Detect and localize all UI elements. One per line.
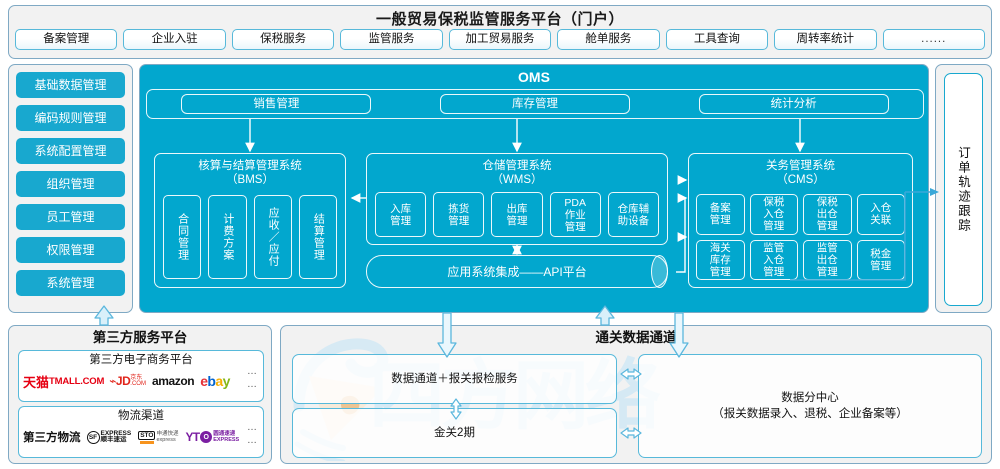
logistics-title: 物流渠道	[19, 407, 263, 424]
tracking-panel: 订单轨迹跟踪	[935, 64, 992, 313]
bms-title: 核算与结算管理系统 （BMS）	[155, 154, 345, 187]
third-party-title: 第三方服务平台	[9, 326, 271, 346]
oms-top-module-group: 销售管理 库存管理 统计分析	[146, 89, 924, 119]
cms-cell-inbound-link[interactable]: 入仓 关联	[857, 194, 906, 235]
order-tracking-label: 订单轨迹跟踪	[954, 146, 973, 233]
nav-button-7[interactable]: 周转率统计	[774, 29, 876, 50]
nav-button-4[interactable]: 加工贸易服务	[449, 29, 551, 50]
ecommerce-title: 第三方电子商务平台	[19, 351, 263, 368]
wms-cell-inbound[interactable]: 入库 管理	[375, 192, 426, 237]
jd-logo-icon[interactable]: ⌁JD京东.COM	[109, 374, 146, 388]
oms-title: OMS	[140, 65, 928, 85]
tmall-logo-icon[interactable]: 天猫TMALL.COM	[23, 372, 104, 391]
ecommerce-more-dots[interactable]: … …	[247, 365, 258, 391]
bms-cell-billing-plan[interactable]: 计费方案	[208, 195, 246, 279]
cms-cell-bonded-out[interactable]: 保税 出仓 管理	[803, 194, 852, 235]
cms-block: 关务管理系统 （CMS） 备案 管理 保税 入仓 管理 保税 出仓 管理 入仓 …	[688, 153, 913, 288]
ecommerce-logo-row: 天猫TMALL.COM ⌁JD京东.COM amazon ebay	[19, 368, 263, 394]
sidebar-item-organization[interactable]: 组织管理	[16, 171, 125, 197]
sidebar-panel: 基础数据管理 编码规则管理 系统配置管理 组织管理 员工管理 权限管理 系统管理	[8, 64, 133, 313]
oms-module-inventory[interactable]: 库存管理	[440, 94, 630, 114]
nav-button-0[interactable]: 备案管理	[15, 29, 117, 50]
customs-data-channel-box[interactable]: 数据通道＋报关报检服务	[292, 354, 617, 404]
cms-cell-record[interactable]: 备案 管理	[696, 194, 745, 235]
nav-button-more[interactable]: ......	[883, 29, 985, 50]
sto-express-logo-icon[interactable]: STO 申通快递express	[138, 431, 178, 444]
bms-cell-contract[interactable]: 合同管理	[163, 195, 201, 279]
oms-module-statistics[interactable]: 统计分析	[699, 94, 889, 114]
cms-cell-bonded-in[interactable]: 保税 入仓 管理	[750, 194, 799, 235]
wms-cell-outbound[interactable]: 出库 管理	[491, 192, 542, 237]
logistics-logo-row: 第三方物流 SFEXPRESS顺丰速运 STO 申通快递express YTO圆…	[19, 424, 263, 450]
third-party-logistics-label: 第三方物流	[23, 429, 81, 445]
page-title: 一般贸易保税监管服务平台（门户）	[9, 6, 991, 29]
sidebar-item-permission[interactable]: 权限管理	[16, 237, 125, 263]
nav-button-3[interactable]: 监管服务	[340, 29, 442, 50]
golden-gate-phase2-box[interactable]: 金关2期	[292, 408, 617, 458]
wms-cell-picking[interactable]: 拣货 管理	[433, 192, 484, 237]
customs-panel: 四方网络 通关数据通道 数据通道＋报关报检服务 金关2期 数据分中心 （报关数据…	[280, 325, 992, 464]
oms-module-sales[interactable]: 销售管理	[181, 94, 371, 114]
wms-cell-group: 入库 管理 拣货 管理 出库 管理 PDA 作业 管理 仓库辅 助设备	[375, 192, 659, 237]
amazon-logo-icon[interactable]: amazon	[152, 374, 194, 388]
wms-cell-equipment[interactable]: 仓库辅 助设备	[608, 192, 659, 237]
sidebar-item-employee[interactable]: 员工管理	[16, 204, 125, 230]
sidebar-list: 基础数据管理 编码规则管理 系统配置管理 组织管理 员工管理 权限管理 系统管理	[9, 65, 132, 296]
oms-panel: OMS 销售管理 库存管理 统计分析 核算与结算管理系统 （BMS） 合同管理 …	[139, 64, 929, 313]
api-platform-label: 应用系统集成——API平台	[447, 263, 586, 280]
cms-title: 关务管理系统 （CMS）	[689, 154, 912, 187]
sidebar-item-system-config[interactable]: 系统配置管理	[16, 138, 125, 164]
sf-express-logo-icon[interactable]: SFEXPRESS顺丰速运	[87, 431, 132, 444]
ecommerce-card: 第三方电子商务平台 天猫TMALL.COM ⌁JD京东.COM amazon e…	[18, 350, 264, 402]
bms-block: 核算与结算管理系统 （BMS） 合同管理 计费方案 应收／应付 结算管理	[154, 153, 346, 288]
cms-cell-supervise-out[interactable]: 监管 出仓 管理	[803, 240, 852, 281]
sidebar-item-code-rule[interactable]: 编码规则管理	[16, 105, 125, 131]
logistics-more-dots[interactable]: … …	[247, 421, 258, 447]
wms-cell-pda[interactable]: PDA 作业 管理	[550, 192, 601, 237]
customs-title: 通关数据通道	[281, 326, 991, 346]
nav-button-6[interactable]: 工具查询	[666, 29, 768, 50]
header-nav: 备案管理 企业入驻 保税服务 监管服务 加工贸易服务 舱单服务 工具查询 周转率…	[9, 29, 991, 50]
sidebar-item-system[interactable]: 系统管理	[16, 270, 125, 296]
wms-block: 仓储管理系统 （WMS） 入库 管理 拣货 管理 出库 管理 PDA 作业 管理…	[366, 153, 668, 245]
third-party-panel: 第三方服务平台 第三方电子商务平台 天猫TMALL.COM ⌁JD京东.COM …	[8, 325, 272, 464]
order-tracking-box[interactable]: 订单轨迹跟踪	[944, 73, 983, 306]
nav-button-2[interactable]: 保税服务	[232, 29, 334, 50]
data-subcenter-box[interactable]: 数据分中心 （报关数据录入、退税、企业备案等）	[638, 354, 982, 458]
diagram-root: 一般贸易保税监管服务平台（门户） 备案管理 企业入驻 保税服务 监管服务 加工贸…	[0, 0, 1000, 469]
arrow-api-to-cms	[680, 198, 686, 272]
sidebar-item-basic-data[interactable]: 基础数据管理	[16, 72, 125, 98]
header-panel: 一般贸易保税监管服务平台（门户） 备案管理 企业入驻 保税服务 监管服务 加工贸…	[8, 5, 992, 59]
logistics-card: 物流渠道 第三方物流 SFEXPRESS顺丰速运 STO 申通快递express…	[18, 406, 264, 458]
nav-button-1[interactable]: 企业入驻	[123, 29, 225, 50]
cylinder-endcap-icon	[651, 255, 668, 288]
bms-cell-settlement[interactable]: 结算管理	[299, 195, 337, 279]
cms-cell-tax[interactable]: 税金 管理	[857, 240, 906, 281]
nav-button-5[interactable]: 舱单服务	[557, 29, 659, 50]
api-platform-bar[interactable]: 应用系统集成——API平台	[366, 255, 668, 288]
bms-cell-group: 合同管理 计费方案 应收／应付 结算管理	[163, 195, 337, 279]
wms-title: 仓储管理系统 （WMS）	[367, 154, 667, 187]
bms-cell-receivable-payable[interactable]: 应收／应付	[254, 195, 292, 279]
cms-cell-group: 备案 管理 保税 入仓 管理 保税 出仓 管理 入仓 关联 海关 库存 管理 监…	[696, 194, 905, 280]
yto-express-logo-icon[interactable]: YTO圆通速递EXPRESS	[185, 430, 239, 444]
ebay-logo-icon[interactable]: ebay	[200, 373, 230, 389]
cms-cell-supervise-in[interactable]: 监管 入仓 管理	[750, 240, 799, 281]
cms-cell-customs-stock[interactable]: 海关 库存 管理	[696, 240, 745, 281]
